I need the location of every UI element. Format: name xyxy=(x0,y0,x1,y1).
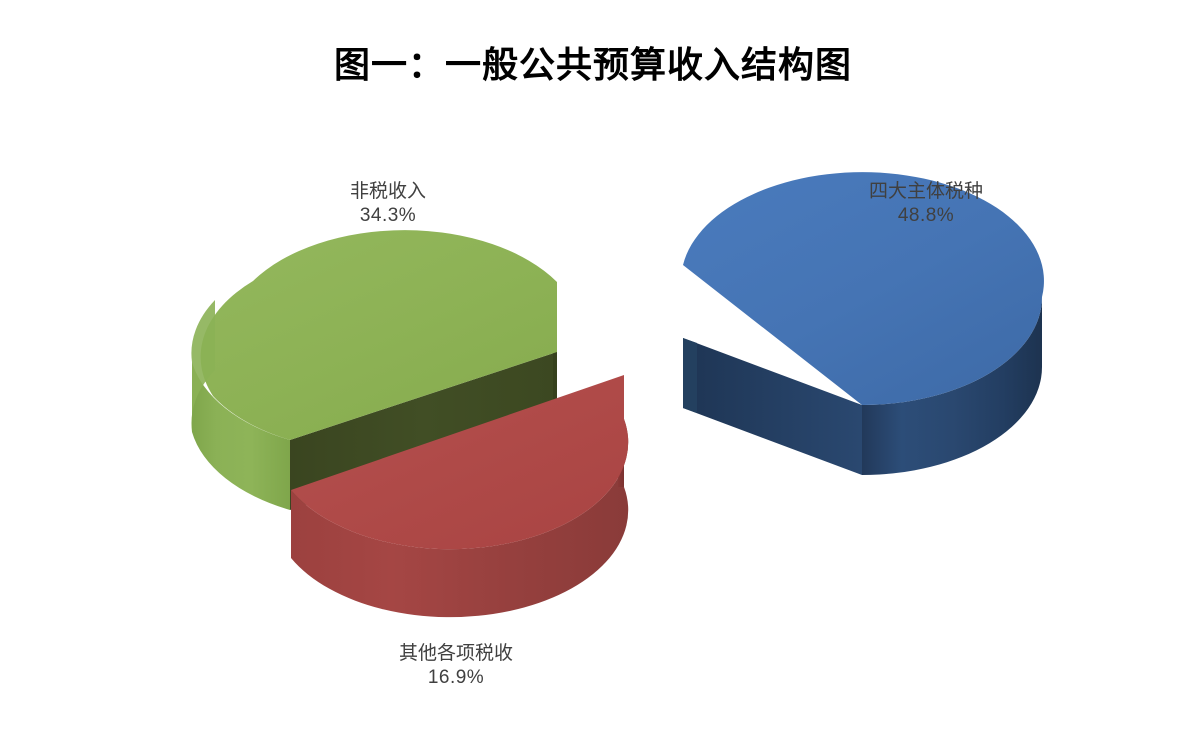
pie-label-green: 非税收入 34.3% xyxy=(288,180,488,229)
pie-label-green-percent: 34.3% xyxy=(288,204,488,228)
pie-label-red-name: 其他各项税收 xyxy=(356,642,556,666)
pie-label-green-name: 非税收入 xyxy=(288,180,488,204)
pie-label-blue-name: 四大主体税种 xyxy=(826,180,1026,204)
pie-label-red-percent: 16.9% xyxy=(356,666,556,690)
pie-chart-canvas xyxy=(0,0,1186,745)
pie-slice-blue-apex xyxy=(683,338,697,413)
pie-chart-figure: 图一：一般公共预算收入结构图 xyxy=(0,0,1186,745)
pie-label-red: 其他各项税收 16.9% xyxy=(356,642,556,691)
pie-label-blue-percent: 48.8% xyxy=(826,204,1026,228)
pie-label-blue: 四大主体税种 48.8% xyxy=(826,180,1026,229)
